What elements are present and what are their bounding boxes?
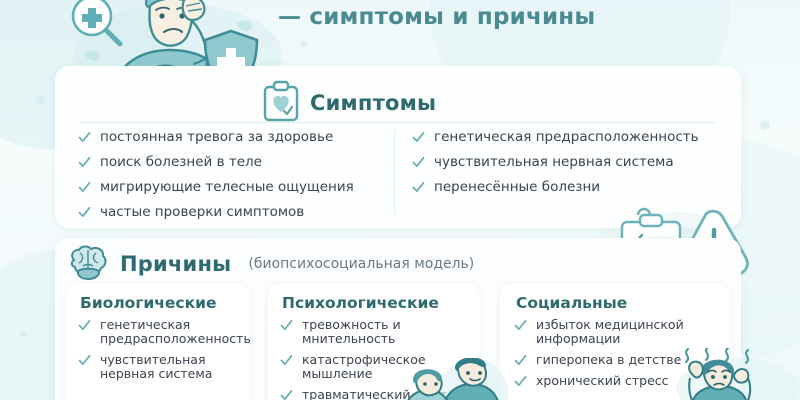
causes-header: Причины (биопсихосоциальная модель) [66, 244, 474, 284]
causes-subtitle: (биопсихосоциальная модель) [248, 256, 474, 272]
brain-icon [66, 244, 110, 284]
social-column-title: Социальные [516, 294, 627, 312]
check-icon [280, 389, 293, 400]
check-icon [78, 156, 91, 169]
list-item: частые проверки симптомов [78, 205, 378, 220]
clipboard-heart-icon [262, 80, 300, 126]
list-item-label: тревожность и мнительность [302, 318, 486, 346]
biological-causes-list: генетическая предрасположенность чувстви… [78, 318, 250, 388]
symptoms-right-list: генетическая предрасположенность чувстви… [412, 130, 722, 205]
decorative-dot [36, 96, 45, 105]
list-item: гиперопека в детстве [514, 353, 736, 367]
list-item-label: катастрофическое мышление [302, 353, 486, 381]
check-icon [412, 131, 425, 144]
page-title: — симптомы и причины [278, 4, 698, 30]
biological-column-title: Биологические [80, 294, 217, 312]
list-item-label: избыток медицинской информации [536, 318, 736, 346]
decorative-dot [20, 330, 27, 337]
symptoms-divider-horizontal [80, 122, 716, 123]
list-item: избыток медицинской информации [514, 318, 736, 346]
list-item-label: травматический опыт [302, 388, 447, 400]
check-icon [78, 181, 91, 194]
symptoms-title: Симптомы [310, 91, 436, 115]
check-icon [280, 319, 293, 332]
check-icon [514, 354, 527, 367]
list-item-label: хронический стресс [536, 374, 669, 388]
check-icon [514, 319, 527, 332]
symptoms-divider-vertical [394, 130, 395, 214]
list-item-label: перенесённые болезни [434, 180, 600, 195]
list-item: перенесённые болезни [412, 180, 722, 195]
list-item: тревожность и мнительность [280, 318, 486, 346]
check-icon [78, 319, 91, 332]
list-item-label: генетическая предрасположенность [434, 130, 699, 145]
check-icon [78, 206, 91, 219]
list-item: генетическая предрасположенность [412, 130, 722, 145]
list-item-label: гиперопека в детстве [536, 353, 681, 367]
list-item-label: чувствительная нервная система [100, 353, 250, 381]
causes-title: Причины [120, 252, 231, 276]
list-item: хронический стресс [514, 374, 736, 388]
check-icon [412, 156, 425, 169]
decorative-dot [760, 120, 770, 130]
symptoms-header: Симптомы [262, 80, 436, 126]
list-item: поиск болезней в теле [78, 155, 378, 170]
list-item: генетическая предрасположенность [78, 318, 250, 346]
list-item-label: поиск болезней в теле [100, 155, 262, 170]
check-icon [412, 181, 425, 194]
infographic-page: — симптомы и причины Симптомы постоянная… [0, 0, 800, 400]
psychological-column-title: Психологические [282, 294, 439, 312]
list-item-label: постоянная тревога за здоровье [100, 130, 333, 145]
check-icon [280, 354, 293, 367]
psychological-causes-list: тревожность и мнительность катастрофичес… [280, 318, 486, 400]
list-item: травматический опыт [280, 388, 486, 400]
check-icon [78, 354, 91, 367]
list-item: катастрофическое мышление [280, 353, 486, 381]
list-item-label: частые проверки симптомов [100, 205, 304, 220]
list-item-label: чувствительная нервная система [434, 155, 674, 170]
list-item: постоянная тревога за здоровье [78, 130, 378, 145]
list-item-label: мигрирующие телесные ощущения [100, 180, 354, 195]
symptoms-left-list: постоянная тревога за здоровье поиск бол… [78, 130, 378, 230]
social-causes-list: избыток медицинской информации гиперопек… [514, 318, 736, 395]
list-item: чувствительная нервная система [412, 155, 722, 170]
decorative-dot [300, 40, 307, 47]
list-item: чувствительная нервная система [78, 353, 250, 381]
list-item-label: генетическая предрасположенность [100, 318, 251, 346]
list-item: мигрирующие телесные ощущения [78, 180, 378, 195]
check-icon [78, 131, 91, 144]
check-icon [514, 375, 527, 388]
